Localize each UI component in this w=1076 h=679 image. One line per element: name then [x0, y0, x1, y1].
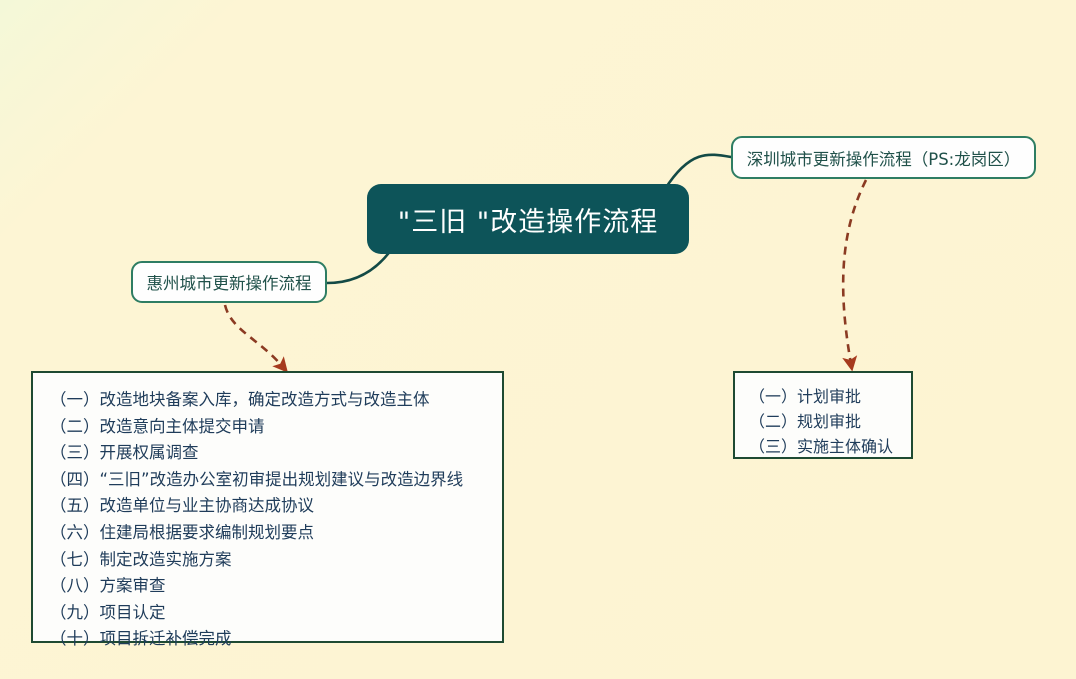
- edge-shenzhen-to-right-box: [843, 180, 866, 364]
- list-item: （十）项目拆迁补偿完成: [50, 626, 502, 653]
- root-node-label: "三旧 "改造操作流程: [398, 200, 658, 239]
- list-item: （九）项目认定: [50, 600, 502, 627]
- list-item: （四）“三旧”改造办公室初审提出规划建议与改造边界线: [50, 467, 502, 494]
- edge-huizhou-to-main-box: [225, 305, 283, 367]
- list-item: （三）开展权属调查: [50, 440, 502, 467]
- mindmap-canvas: "三旧 "改造操作流程 深圳城市更新操作流程（PS:龙岗区） 惠州城市更新操作流…: [0, 0, 1076, 679]
- list-item: （八）方案审查: [50, 573, 502, 600]
- edge-root-to-huizhou: [327, 250, 391, 283]
- list-item: （六）住建局根据要求编制规划要点: [50, 520, 502, 547]
- main-procedure-list-box[interactable]: （一）改造地块备案入库，确定改造方式与改造主体 （二）改造意向主体提交申请 （三…: [31, 371, 504, 643]
- list-item: （一）计划审批: [749, 384, 911, 409]
- list-item: （七）制定改造实施方案: [50, 547, 502, 574]
- list-item: （二）改造意向主体提交申请: [50, 414, 502, 441]
- list-item: （二）规划审批: [749, 409, 911, 434]
- branch-node-shenzhen[interactable]: 深圳城市更新操作流程（PS:龙岗区）: [731, 136, 1036, 179]
- branch-node-shenzhen-label: 深圳城市更新操作流程（PS:龙岗区）: [747, 146, 1020, 170]
- list-item: （五）改造单位与业主协商达成协议: [50, 493, 502, 520]
- branch-node-huizhou[interactable]: 惠州城市更新操作流程: [131, 261, 327, 303]
- branch-node-huizhou-label: 惠州城市更新操作流程: [147, 270, 312, 294]
- shenzhen-procedure-list-box[interactable]: （一）计划审批 （二）规划审批 （三）实施主体确认: [733, 371, 913, 459]
- root-node[interactable]: "三旧 "改造操作流程: [367, 184, 689, 254]
- list-item: （三）实施主体确认: [749, 434, 911, 459]
- list-item: （一）改造地块备案入库，确定改造方式与改造主体: [50, 387, 502, 414]
